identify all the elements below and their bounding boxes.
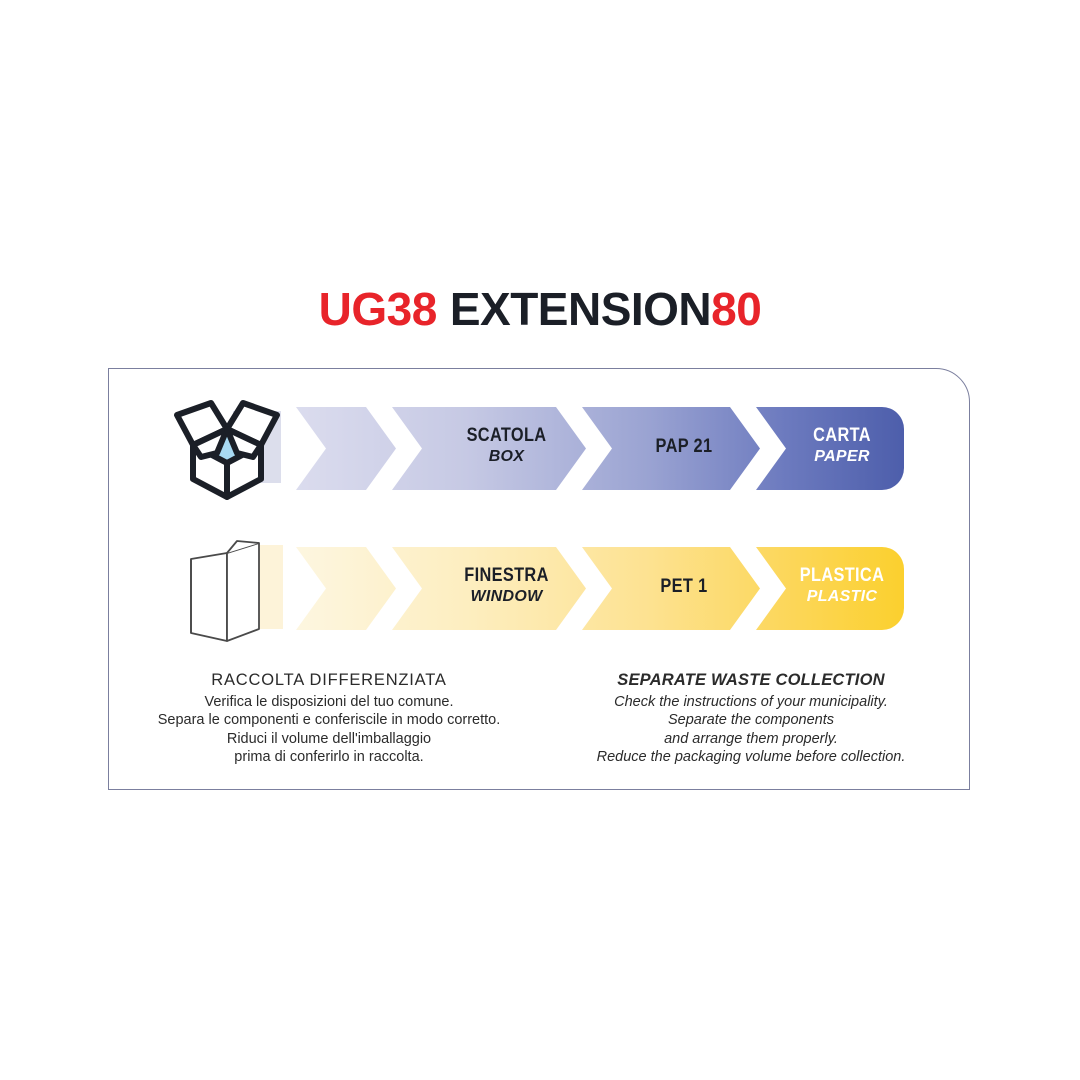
instructions-italian-heading: RACCOLTA DIFFERENZIATA: [119, 671, 539, 690]
segment-main-plastica: PLASTICA: [789, 566, 896, 586]
title-part-number: 80: [711, 286, 761, 332]
title-part-product-code: UG38: [319, 286, 437, 332]
segment-label-pet1: PET 1: [608, 577, 760, 597]
segment-label-plastica: PLASTICA PLASTIC: [780, 566, 904, 606]
open-cardboard-box-icon: [161, 393, 293, 503]
instructions-english-line-1: Check the instructions of your municipal…: [541, 693, 961, 711]
segment-label-pap21: PAP 21: [608, 437, 760, 457]
segment-main-finestra: FINESTRA: [427, 566, 586, 586]
material-chain-paper: SCATOLA BOX PAP 21 CARTA PAPER: [296, 407, 904, 490]
segment-label-carta: CARTA PAPER: [780, 426, 904, 466]
instructions-english-heading: SEPARATE WASTE COLLECTION: [541, 671, 961, 690]
segment-sub-window: WINDOW: [414, 589, 599, 606]
segment-label-finestra: FINESTRA WINDOW: [414, 566, 599, 606]
instructions-italian-line-4: prima di conferirlo in raccolta.: [119, 748, 539, 766]
recycling-info-card: SCATOLA BOX PAP 21 CARTA PAPER: [108, 368, 970, 790]
window-film-panel-icon: [161, 533, 293, 643]
instructions-english-line-3: and arrange them properly.: [541, 730, 961, 748]
page-title: UG38EXTENSION80: [0, 286, 1080, 332]
material-row-plastic: FINESTRA WINDOW PET 1 PLASTICA PLASTIC: [109, 533, 971, 643]
segment-main-carta: CARTA: [789, 426, 896, 446]
material-chain-plastic: FINESTRA WINDOW PET 1 PLASTICA PLASTIC: [296, 547, 904, 630]
segment-sub-box: BOX: [414, 449, 599, 466]
title-part-extension: EXTENSION: [450, 286, 711, 332]
segment-label-scatola: SCATOLA BOX: [414, 426, 599, 466]
segment-main-pet1: PET 1: [619, 577, 750, 597]
instructions-italian-line-3: Riduci il volume dell'imballaggio: [119, 730, 539, 748]
segment-main-scatola: SCATOLA: [427, 426, 586, 446]
instructions-italian-line-2: Separa le componenti e conferiscile in m…: [119, 711, 539, 729]
segment-sub-paper: PAPER: [780, 449, 904, 466]
segment-sub-plastic: PLASTIC: [780, 589, 904, 606]
instructions-english-line-4: Reduce the packaging volume before colle…: [541, 748, 961, 766]
instructions-english-line-2: Separate the components: [541, 711, 961, 729]
instructions-italian: RACCOLTA DIFFERENZIATA Verifica le dispo…: [119, 671, 539, 766]
material-row-paper: SCATOLA BOX PAP 21 CARTA PAPER: [109, 393, 971, 503]
instructions-italian-line-1: Verifica le disposizioni del tuo comune.: [119, 693, 539, 711]
segment-main-pap21: PAP 21: [619, 437, 750, 457]
instructions-english: SEPARATE WASTE COLLECTION Check the inst…: [541, 671, 961, 766]
